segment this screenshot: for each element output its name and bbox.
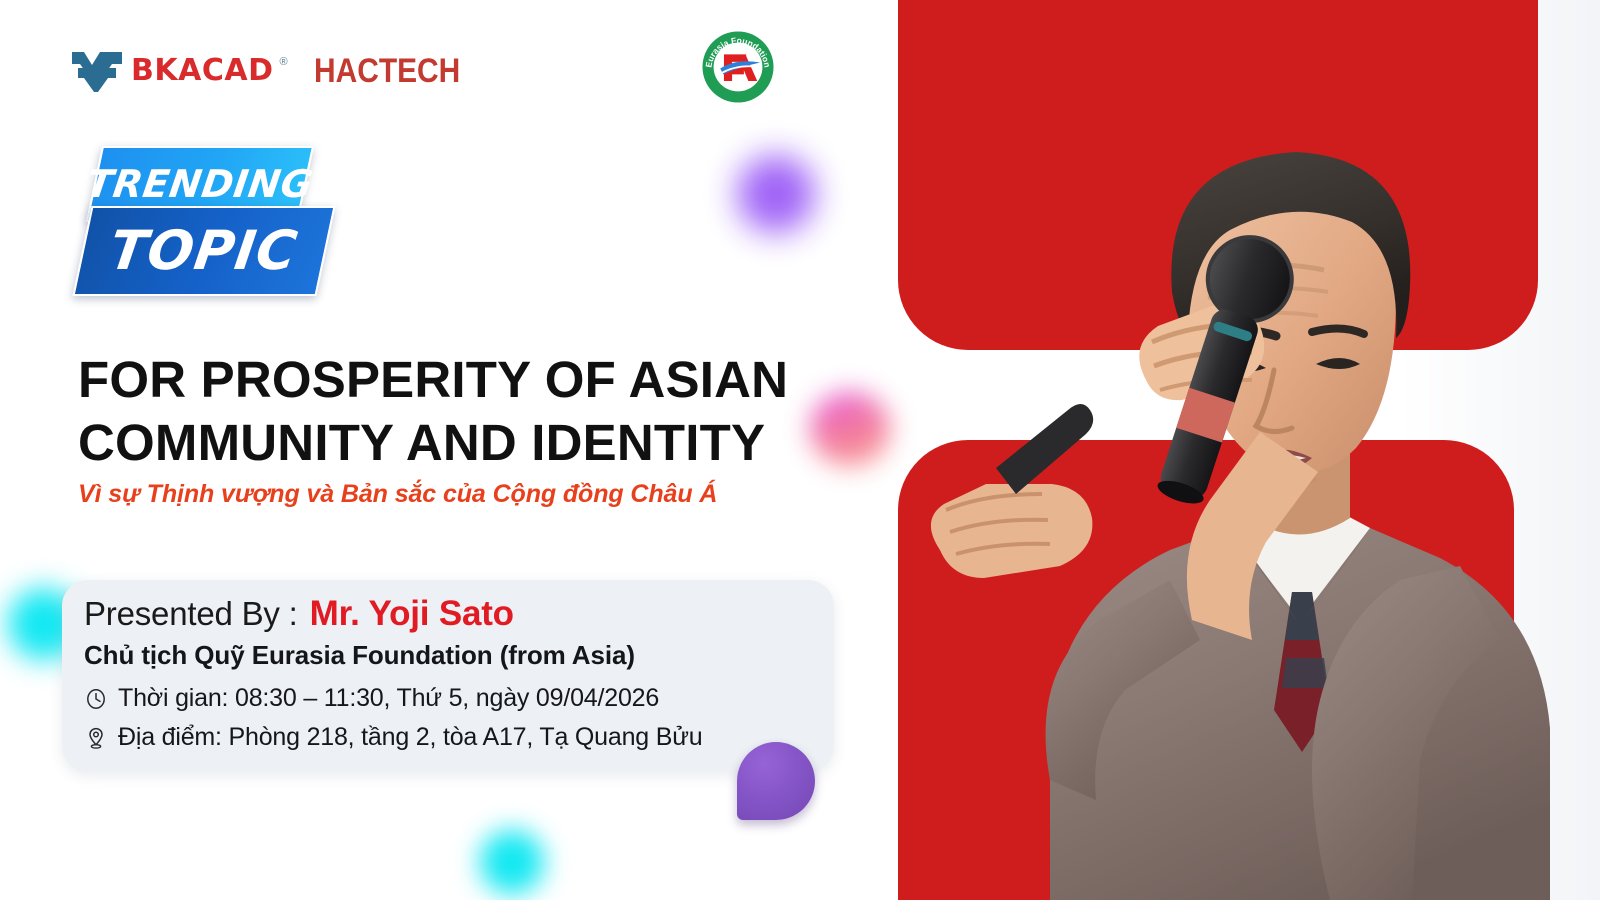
- event-time-row: Thời gian: 08:30 – 11:30, Thứ 5, ngày 09…: [84, 684, 659, 713]
- headline-line-2: COMMUNITY AND IDENTITY: [78, 411, 798, 474]
- decorative-blob-pink: [810, 392, 890, 466]
- eurasia-foundation-seal-icon: Eurasia Foundation from Asia: [701, 30, 775, 104]
- bkacad-logo: BKACAD ®: [70, 48, 288, 94]
- speaker-portrait: [900, 80, 1600, 900]
- content-panel: BKACAD ® HACTECH Eurasia Foundation from…: [0, 0, 880, 900]
- page-title: FOR PROSPERITY OF ASIAN COMMUNITY AND ID…: [78, 348, 798, 474]
- badge-banner-topic: TOPIC: [72, 206, 335, 296]
- hactech-wordmark: HACTECH: [314, 54, 460, 88]
- event-poster: BKACAD ® HACTECH Eurasia Foundation from…: [0, 0, 1600, 900]
- speaker-name: Mr. Yoji Sato: [310, 594, 514, 634]
- event-time-text: Thời gian: 08:30 – 11:30, Thứ 5, ngày 09…: [118, 684, 659, 713]
- trending-topic-badge: TRENDING TOPIC: [78, 146, 348, 304]
- speaker-title: Chủ tịch Quỹ Eurasia Foundation (from As…: [84, 640, 635, 671]
- location-pin-icon: [84, 725, 108, 751]
- bkacad-wordmark: BKACAD: [131, 56, 273, 86]
- registered-mark: ®: [279, 56, 287, 68]
- badge-line-2: TOPIC: [107, 224, 302, 278]
- speaker-media-panel: [880, 0, 1600, 900]
- event-location-text: Địa điểm: Phòng 218, tầng 2, tòa A17, Tạ…: [118, 723, 702, 752]
- presented-by-label: Presented By :: [84, 595, 298, 633]
- headline-subtitle-vi: Vì sự Thịnh vượng và Bản sắc của Cộng đồ…: [78, 480, 717, 509]
- event-location-row: Địa điểm: Phòng 218, tầng 2, tòa A17, Tạ…: [84, 723, 702, 752]
- brand-logo-row: BKACAD ® HACTECH: [70, 40, 480, 102]
- decorative-blob-purple-top: [737, 155, 815, 233]
- headline-line-1: FOR PROSPERITY OF ASIAN: [78, 348, 798, 411]
- decorative-blob-cyan-bottom: [480, 830, 544, 894]
- speaker-info-card: Presented By : Mr. Yoji Sato Chủ tịch Qu…: [62, 580, 834, 772]
- double-chevron-w-icon: [70, 48, 126, 94]
- presented-by-row: Presented By : Mr. Yoji Sato: [84, 594, 514, 634]
- badge-line-1: TRENDING: [85, 165, 316, 203]
- clock-icon: [84, 686, 108, 712]
